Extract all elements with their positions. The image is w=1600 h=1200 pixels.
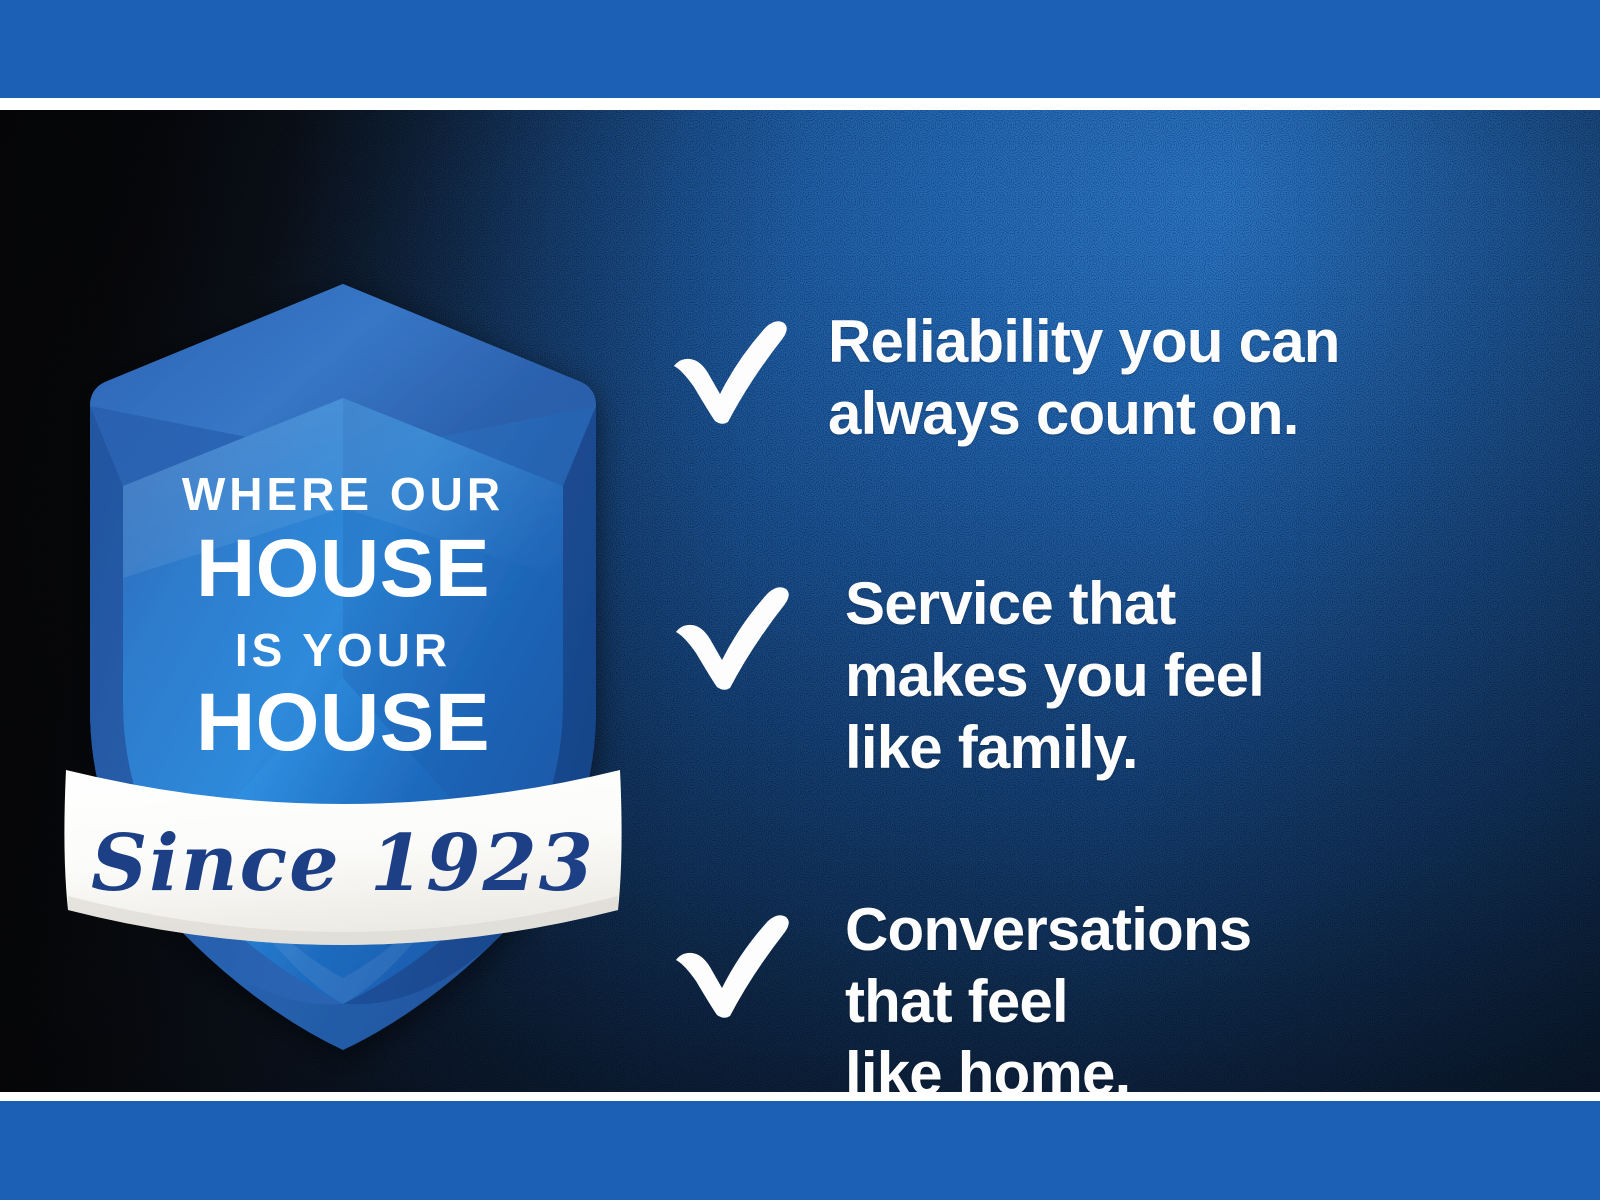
shield-line-1: WHERE OUR [182, 468, 504, 520]
benefit-text-3: Conversationsthat feellike home. [845, 894, 1251, 1092]
ribbon-since-text: Since 1923 [91, 818, 595, 909]
checkmark-wrapper-3 [660, 894, 788, 1012]
benefit-item-service: Service thatmakes you feellike family. [660, 568, 1560, 784]
promo-graphic: WHERE OUR HOUSE IS YOUR HOUSE Since 1923 [0, 0, 1600, 1200]
benefit-item-conversations: Conversationsthat feellike home. [660, 894, 1560, 1092]
checkmark-icon [672, 912, 792, 1020]
checkmark-wrapper-2 [660, 568, 788, 686]
brand-top-bar [0, 0, 1600, 98]
checkmark-icon [670, 318, 790, 426]
benefit-text-1: Reliability you canalways count on. [828, 306, 1340, 450]
benefit-text-2: Service thatmakes you feellike family. [845, 568, 1264, 784]
checkmark-icon [672, 584, 792, 692]
benefit-item-reliability: Reliability you canalways count on. [660, 306, 1560, 450]
shield-line-2: HOUSE [196, 523, 490, 614]
shield-line-4: HOUSE [196, 677, 490, 768]
brand-bottom-bar [0, 1101, 1600, 1200]
shield-emblem: WHERE OUR HOUSE IS YOUR HOUSE Since 1923 [58, 278, 628, 1058]
shield-line-3: IS YOUR [235, 624, 451, 676]
benefits-list: Reliability you canalways count on. Serv… [660, 306, 1560, 1092]
main-stage: WHERE OUR HOUSE IS YOUR HOUSE Since 1923 [0, 110, 1600, 1092]
checkmark-wrapper-1 [660, 306, 788, 424]
